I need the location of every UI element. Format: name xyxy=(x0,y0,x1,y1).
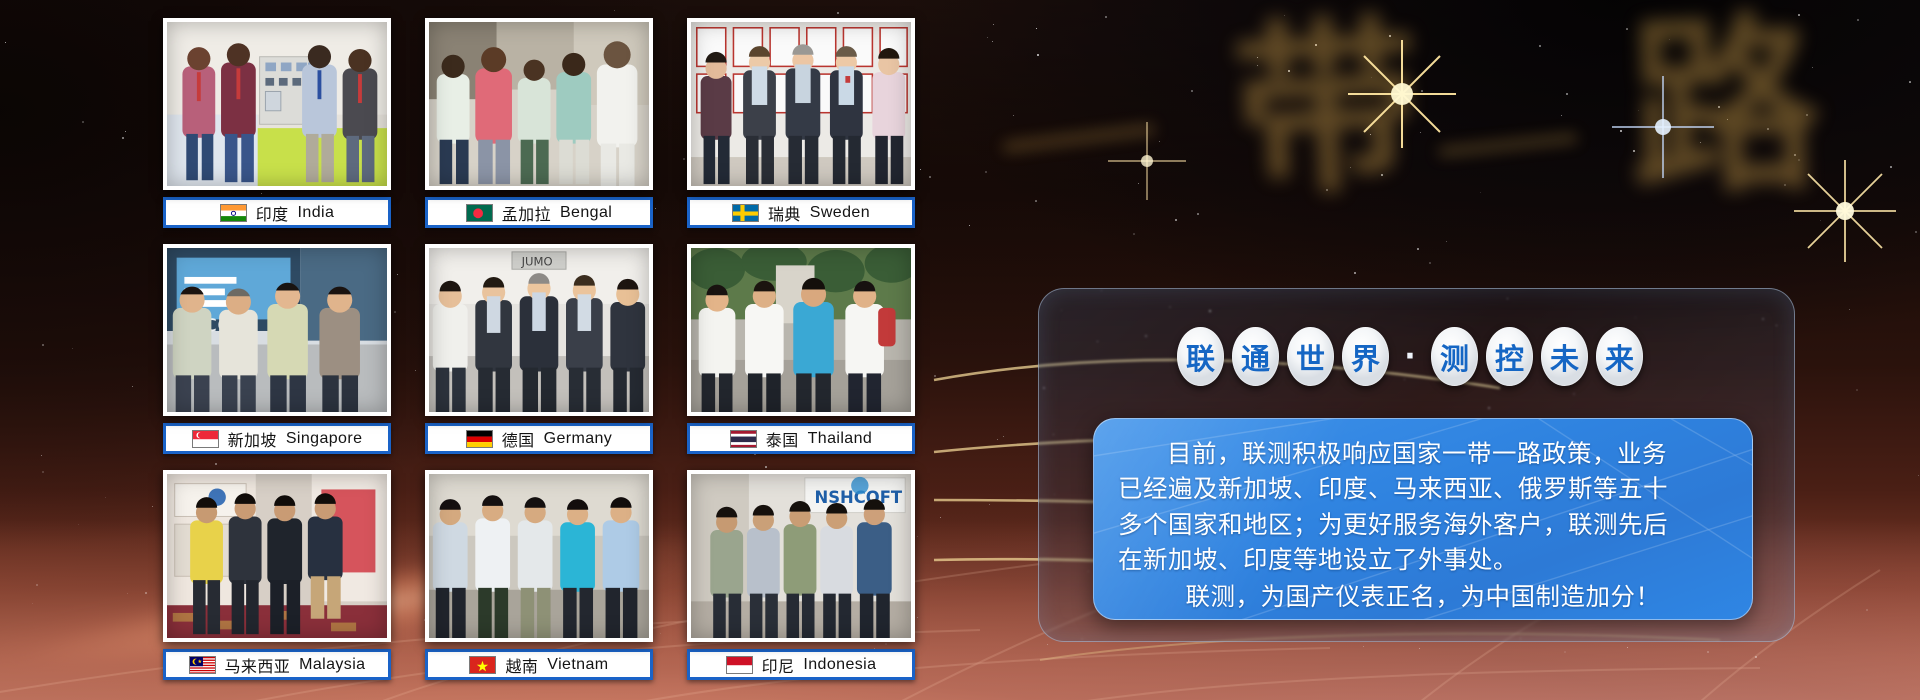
photo-malaysia xyxy=(163,470,391,642)
headline-char: 来 xyxy=(1596,327,1643,386)
description-line-4: 在新加坡、印度等地设立了外事处。 xyxy=(1094,542,1752,577)
country-label-text: 印尼 xyxy=(762,653,795,677)
flag-germany-icon xyxy=(466,430,493,448)
description-line-1: 目前，联测积极响应国家一带一路政策，业务 xyxy=(1094,419,1752,471)
headline-char: 世 xyxy=(1287,327,1334,386)
country-label[interactable]: 泰国 Thailand xyxy=(687,423,915,454)
flag-vietnam-icon xyxy=(469,656,496,674)
country-label[interactable]: 马来西亚 Malaysia xyxy=(163,649,391,680)
description-box: 目前，联测积极响应国家一带一路政策，业务 已经遍及新加坡、印度、马来西亚、俄罗斯… xyxy=(1093,418,1753,620)
flag-bangladesh-icon xyxy=(466,204,493,222)
flag-india-icon xyxy=(220,204,247,222)
description-line-3: 多个国家和地区；为更好服务海外客户，联测先后 xyxy=(1094,507,1752,542)
country-label-text: 越南 xyxy=(505,653,538,677)
flag-thailand-icon xyxy=(730,430,757,448)
gallery-cell-germany[interactable]: JUMO xyxy=(425,244,653,454)
country-label-text-en: Bengal xyxy=(560,204,612,222)
headline-separator-dot: · xyxy=(1397,337,1423,377)
description-line-5: 联测，为国产仪表正名，为中国制造加分！ xyxy=(1094,577,1752,614)
headline-char: 未 xyxy=(1541,327,1588,386)
gallery-cell-indonesia[interactable]: NSHCOFT xyxy=(687,470,915,680)
country-label-text-en: India xyxy=(298,204,335,222)
headline-char: 联 xyxy=(1177,327,1224,386)
gallery-cell-singapore[interactable]: ecev xyxy=(163,244,391,454)
headline-char: 通 xyxy=(1232,327,1279,386)
headline: 联 通 世 界 · 测 控 未 来 xyxy=(1177,327,1643,386)
country-label-text: 印度 xyxy=(256,201,289,225)
country-label[interactable]: 德国 Germany xyxy=(425,423,653,454)
gallery-cell-bengal[interactable]: 孟加拉 Bengal xyxy=(425,18,653,228)
country-label-text: 德国 xyxy=(502,427,535,451)
country-label[interactable]: 印度 India xyxy=(163,197,391,228)
country-label-text: 瑞典 xyxy=(768,201,801,225)
photo-germany: JUMO xyxy=(425,244,653,416)
country-label-text: 孟加拉 xyxy=(502,201,551,225)
country-label[interactable]: 新加坡 Singapore xyxy=(163,423,391,454)
country-label-text-en: Thailand xyxy=(808,430,873,448)
country-label-text-en: Germany xyxy=(544,430,613,448)
flag-indonesia-icon xyxy=(726,656,753,674)
calligraphy-title: 一 带 一 路 xyxy=(1020,6,1910,256)
photo-vietnam xyxy=(425,470,653,642)
country-label[interactable]: 瑞典 Sweden xyxy=(687,197,915,228)
gallery-cell-thailand[interactable]: 泰国 Thailand xyxy=(687,244,915,454)
country-label-text: 泰国 xyxy=(766,427,799,451)
gallery-cell-sweden[interactable]: 瑞典 Sweden xyxy=(687,18,915,228)
gallery-cell-malaysia[interactable]: 马来西亚 Malaysia xyxy=(163,470,391,680)
country-label-text-en: Malaysia xyxy=(299,656,365,674)
country-label[interactable]: 印尼 Indonesia xyxy=(687,649,915,680)
country-label-text-en: Vietnam xyxy=(547,656,608,674)
photo-indonesia: NSHCOFT xyxy=(687,470,915,642)
calligraphy-char-1: 一 xyxy=(996,99,1162,183)
country-label-text-en: Indonesia xyxy=(803,656,876,674)
photo-bengal xyxy=(425,18,653,190)
calligraphy-char-3: 一 xyxy=(1432,110,1583,186)
photo-thailand xyxy=(687,244,915,416)
country-label[interactable]: 孟加拉 Bengal xyxy=(425,197,653,228)
photo-singapore: ecev xyxy=(163,244,391,416)
country-photo-grid: 印度 India xyxy=(163,18,923,682)
promo-banner: 印度 India xyxy=(0,0,1920,700)
calligraphy-char-2: 带 xyxy=(1229,11,1424,206)
gallery-cell-vietnam[interactable]: 越南 Vietnam xyxy=(425,470,653,680)
calligraphy-char-4: 路 xyxy=(1627,9,1824,206)
headline-char: 控 xyxy=(1486,327,1533,386)
country-label-text: 新加坡 xyxy=(228,427,277,451)
country-label[interactable]: 越南 Vietnam xyxy=(425,649,653,680)
country-label-text-en: Sweden xyxy=(810,204,870,222)
description-line-2: 已经遍及新加坡、印度、马来西亚、俄罗斯等五十 xyxy=(1094,471,1752,506)
flag-singapore-icon xyxy=(192,430,219,448)
flag-sweden-icon xyxy=(732,204,759,222)
gallery-cell-india[interactable]: 印度 India xyxy=(163,18,391,228)
country-label-text-en: Singapore xyxy=(286,430,363,448)
flag-malaysia-icon xyxy=(189,656,216,674)
photo-sweden xyxy=(687,18,915,190)
country-label-text: 马来西亚 xyxy=(225,653,291,677)
headline-char: 界 xyxy=(1342,327,1389,386)
headline-char: 测 xyxy=(1431,327,1478,386)
photo-india xyxy=(163,18,391,190)
